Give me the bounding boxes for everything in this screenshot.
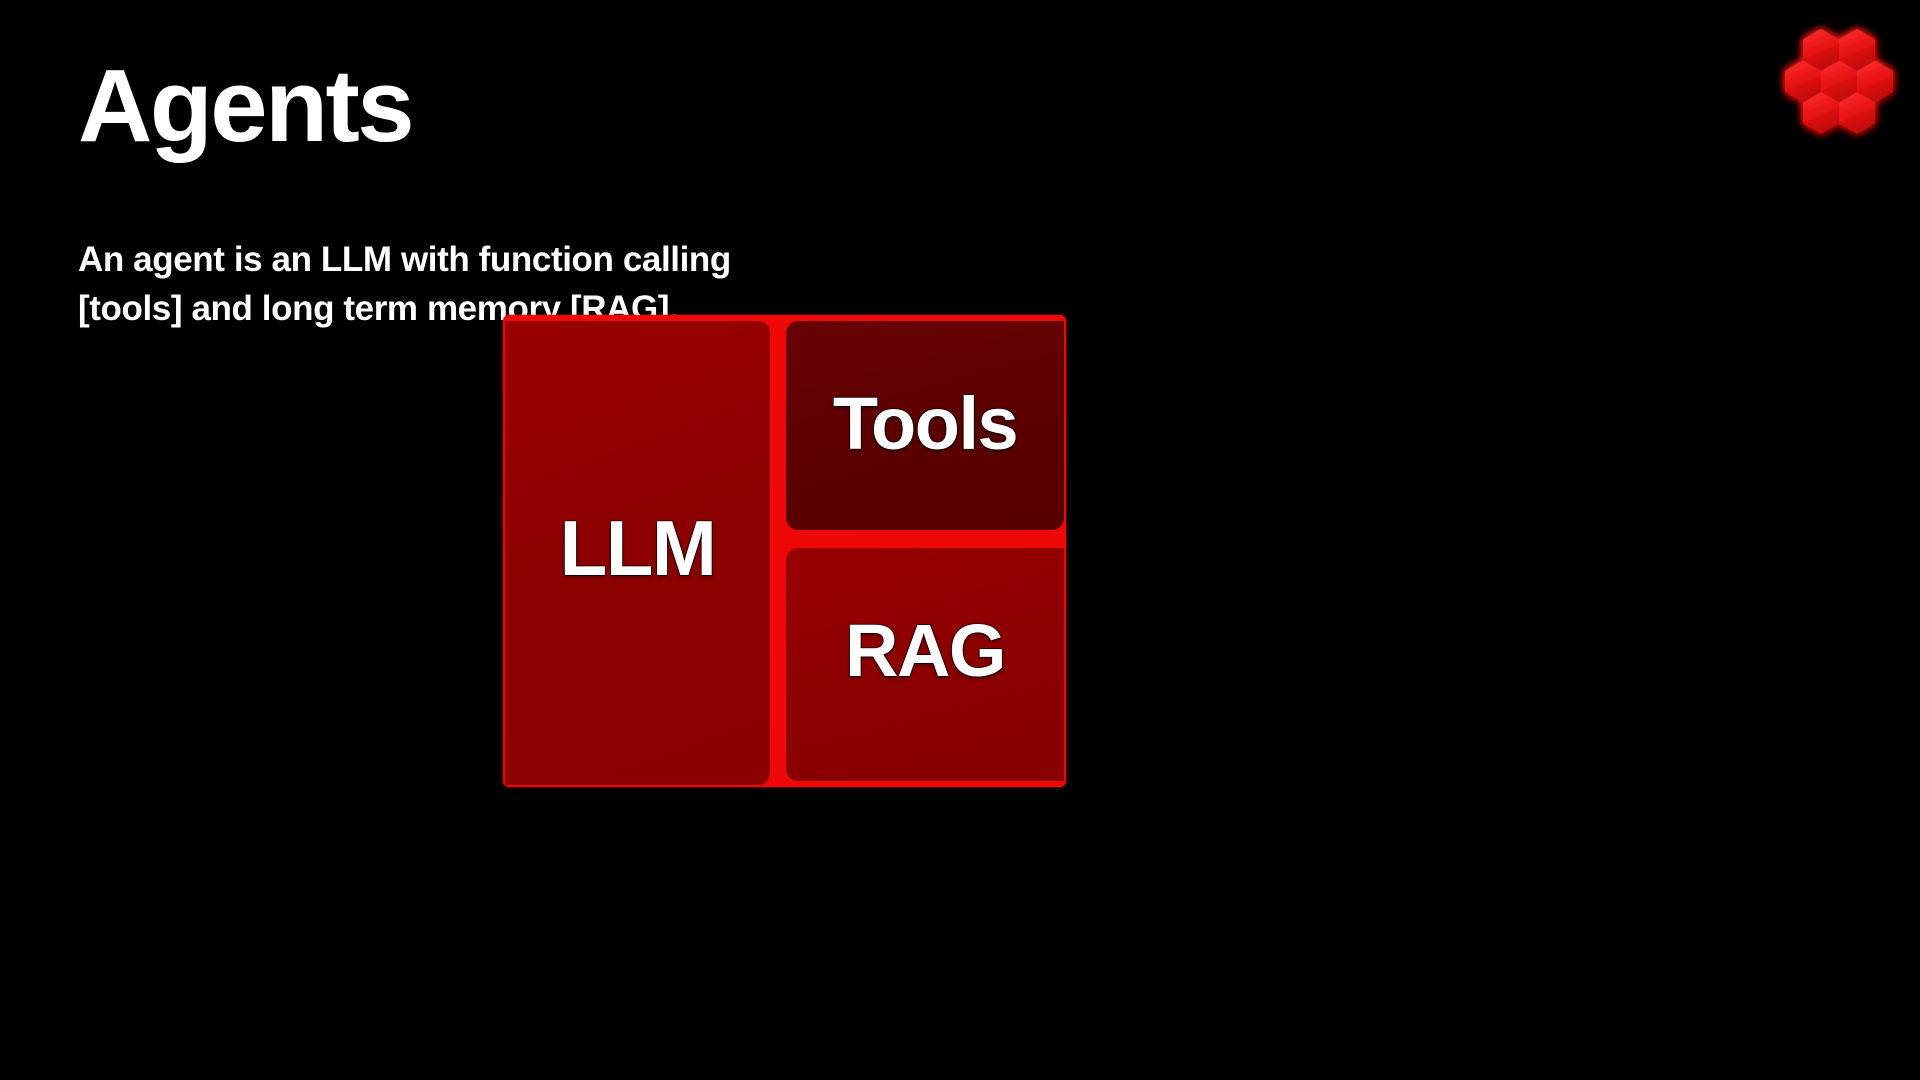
slide-canvas: Agents An agent is an LLM with function … xyxy=(0,0,1920,1080)
agent-architecture-diagram: LLM Tools RAG xyxy=(503,315,1066,787)
hexagon-group xyxy=(1785,29,1893,134)
diagram-block-llm[interactable]: LLM xyxy=(505,321,770,785)
page-title: Agents xyxy=(78,52,412,160)
diagram-block-rag-label: RAG xyxy=(845,614,1005,688)
subtitle-line-1: An agent is an LLM with function calling xyxy=(78,235,1058,284)
hexagon-cluster-logo xyxy=(1778,22,1900,140)
diagram-block-tools-label: Tools xyxy=(833,387,1017,461)
diagram-block-tools[interactable]: Tools xyxy=(786,321,1064,530)
diagram-block-rag[interactable]: RAG xyxy=(786,548,1064,781)
diagram-block-llm-label: LLM xyxy=(560,509,716,587)
